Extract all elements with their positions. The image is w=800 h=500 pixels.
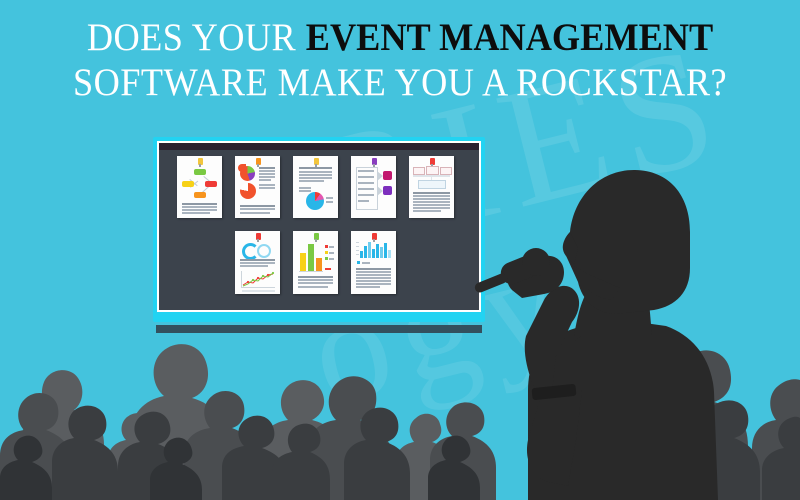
- card-orgchart[interactable]: [409, 156, 454, 218]
- presenter-silhouette: [470, 140, 740, 500]
- board-surface: [159, 143, 479, 310]
- donut-icon: [257, 244, 271, 258]
- pin-icon: [430, 158, 435, 165]
- presentation-board: [153, 137, 485, 322]
- pin-icon: [372, 233, 377, 240]
- bar-orange: [316, 258, 322, 271]
- pin-icon: [256, 158, 261, 165]
- box-magenta: [383, 171, 392, 180]
- board-top-bar: [159, 143, 479, 150]
- node-green: [194, 169, 206, 175]
- card-node-diagram[interactable]: [177, 156, 222, 218]
- card-list-arrows[interactable]: [351, 156, 396, 218]
- pin-icon: [372, 158, 377, 165]
- line-chart-svg: [242, 271, 276, 287]
- headline-part-black: EVENT MANAGEMENT: [306, 16, 713, 59]
- node-orange: [194, 192, 206, 198]
- pie-chart-bottom: [240, 183, 256, 199]
- node-yellow: [182, 181, 194, 187]
- headline-line-1: DOES YOUR EVENT MANAGEMENT: [28, 18, 772, 58]
- node-red: [205, 181, 217, 187]
- box-purple: [383, 186, 392, 195]
- bar-green-tall: [308, 244, 314, 271]
- pin-icon: [198, 158, 203, 165]
- pin-icon: [256, 233, 261, 240]
- pie-slice-exploded: [238, 164, 246, 172]
- headline: DOES YOUR EVENT MANAGEMENT SOFTWARE MAKE…: [0, 18, 800, 103]
- card-line-chart[interactable]: [235, 231, 280, 294]
- pin-icon: [314, 158, 319, 165]
- bar-yellow: [300, 253, 306, 271]
- pin-icon: [314, 233, 319, 240]
- headline-line-2: SOFTWARE MAKE YOU A ROCKSTAR?: [28, 63, 772, 103]
- card-bar-chart[interactable]: [293, 231, 338, 294]
- card-pie-pair[interactable]: [235, 156, 280, 218]
- card-text-pie[interactable]: [293, 156, 338, 218]
- headline-part-white: DOES YOUR: [87, 16, 306, 59]
- poster-canvas: RIES ogy DOES YOUR EVENT MANAGEMENT SOFT…: [0, 0, 800, 500]
- pie-chart: [306, 192, 324, 210]
- card-blue-bars[interactable]: [351, 231, 396, 294]
- board-card-grid: [159, 143, 479, 310]
